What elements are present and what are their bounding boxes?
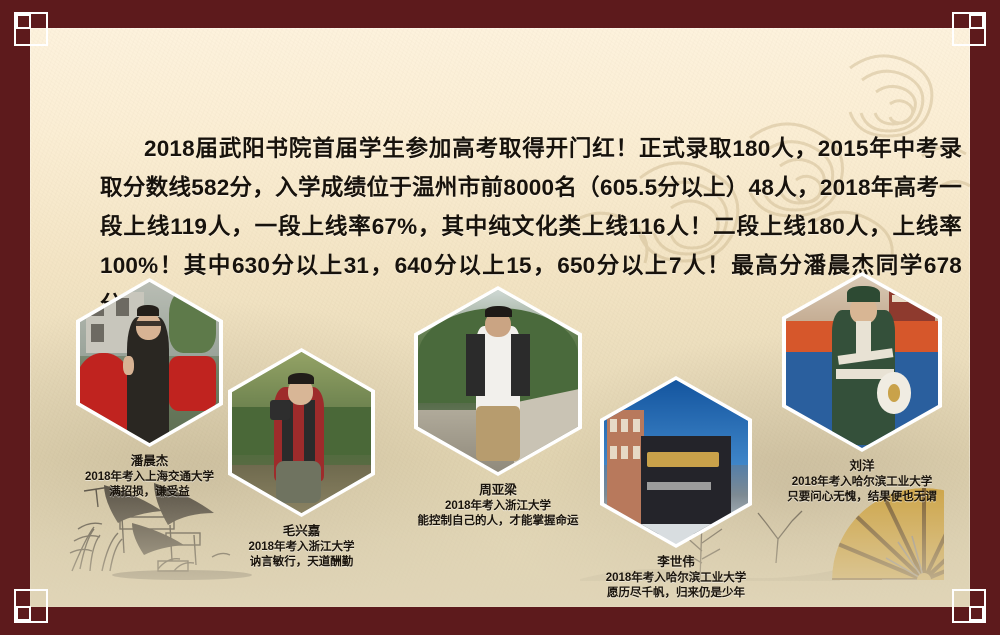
student-motto: 只要问心无愧，结果便也无谓 [782,490,942,506]
student-name: 李世伟 [600,555,752,571]
student-name: 刘洋 [782,459,942,475]
student-motto: 能控制自己的人，才能掌握命运 [414,514,582,530]
student-motto: 满招损，谦受益 [76,485,223,501]
corner-bracket-top-left [14,12,48,46]
student-card-3[interactable]: 李世伟 2018年考入哈尔滨工业大学 愿历尽千帆，归来仍是少年 [600,376,752,602]
student-photo-mao-xingjia [232,352,371,513]
student-photo-frame [782,272,942,452]
student-photo-liu-yang [786,276,938,448]
student-photo-frame [76,278,223,447]
student-admission: 2018年考入上海交通大学 [76,470,223,486]
student-caption: 周亚梁 2018年考入浙江大学 能控制自己的人，才能掌握命运 [414,483,582,530]
student-card-1[interactable]: 毛兴嘉 2018年考入浙江大学 讷言敏行，天道酬勤 [228,348,375,571]
corner-bracket-bottom-right [952,589,986,623]
student-motto: 讷言敏行，天道酬勤 [228,555,375,571]
poster-root: 2018届武阳书院首届学生参加高考取得开门红！正式录取180人，2015年中考录… [0,0,1000,635]
student-name: 毛兴嘉 [228,524,375,540]
corner-bracket-top-right [952,12,986,46]
student-photo-zhou-yaliang [418,290,578,472]
student-photo-frame [414,286,582,476]
corner-bracket-bottom-left [14,589,48,623]
student-caption: 李世伟 2018年考入哈尔滨工业大学 愿历尽千帆，归来仍是少年 [600,555,752,602]
student-photo-pan-chenjie [80,282,219,443]
student-admission: 2018年考入哈尔滨工业大学 [600,571,752,587]
student-admission: 2018年考入哈尔滨工业大学 [782,475,942,491]
student-card-2[interactable]: 周亚梁 2018年考入浙江大学 能控制自己的人，才能掌握命运 [414,286,582,530]
student-card-0[interactable]: 潘晨杰 2018年考入上海交通大学 满招损，谦受益 [76,278,223,501]
student-caption: 毛兴嘉 2018年考入浙江大学 讷言敏行，天道酬勤 [228,524,375,571]
student-caption: 刘洋 2018年考入哈尔滨工业大学 只要问心无愧，结果便也无谓 [782,459,942,506]
student-photo-frame [228,348,375,517]
student-admission: 2018年考入浙江大学 [228,540,375,556]
student-name: 周亚梁 [414,483,582,499]
student-caption: 潘晨杰 2018年考入上海交通大学 满招损，谦受益 [76,454,223,501]
student-photo-frame [600,376,752,548]
paper-panel: 2018届武阳书院首届学生参加高考取得开门红！正式录取180人，2015年中考录… [30,28,970,607]
student-admission: 2018年考入浙江大学 [414,499,582,515]
student-name: 潘晨杰 [76,454,223,470]
student-card-4[interactable]: 刘洋 2018年考入哈尔滨工业大学 只要问心无愧，结果便也无谓 [782,272,942,506]
student-motto: 愿历尽千帆，归来仍是少年 [600,586,752,602]
student-photo-li-shiwei [604,380,748,544]
